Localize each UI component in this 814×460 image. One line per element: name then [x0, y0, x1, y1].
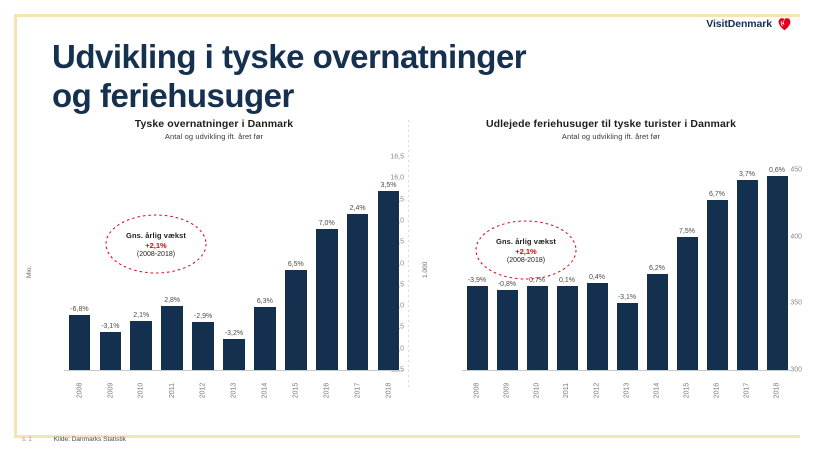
bar-data-label: 0,6% [769, 167, 785, 174]
frame-border-left [14, 14, 17, 438]
page-title-line1: Udvikling i tyske overnatninger [52, 38, 692, 77]
bar[interactable] [467, 286, 488, 370]
bar-data-label: -3,2% [225, 330, 243, 337]
bar-item[interactable]: 0,6% [762, 157, 792, 370]
bar-data-label: -0,8% [498, 281, 516, 288]
x-axis-tick: 2014 [261, 383, 268, 399]
bar[interactable] [378, 191, 400, 370]
x-axis-tick: 2016 [323, 383, 330, 399]
bar[interactable] [617, 303, 638, 370]
bar-item[interactable]: 7,0% [311, 157, 342, 370]
y-axis-label-right: 1.000 [422, 261, 429, 277]
bar-data-label: 7,0% [319, 220, 335, 227]
page-title-line2: og feriehusuger [52, 77, 692, 116]
bar-item[interactable]: -3,2% [219, 157, 250, 370]
bar[interactable] [557, 286, 578, 370]
frame-border-top [14, 14, 800, 17]
bar-data-label: -6,8% [70, 306, 88, 313]
chart-title-left: Tyske overnatninger i Danmark [24, 118, 404, 130]
bar-data-label: 6,7% [709, 191, 725, 198]
x-axis-tick: 2010 [138, 383, 145, 399]
x-axis-tick: 2015 [292, 383, 299, 399]
chart-subtitle-left: Antal og udvikling ift. året før [24, 132, 404, 141]
x-axis-tick: 2009 [503, 383, 510, 399]
bar-data-label: 3,7% [739, 171, 755, 178]
bar-data-label: 2,8% [164, 297, 180, 304]
bar-item[interactable]: 3,7% [732, 157, 762, 370]
x-axis-tick: 2014 [653, 383, 660, 399]
bar-item[interactable]: 6,2% [642, 157, 672, 370]
bar-data-label: 2,1% [133, 312, 149, 319]
bar[interactable] [527, 286, 548, 370]
bar[interactable] [100, 332, 122, 370]
bar[interactable] [497, 290, 518, 370]
annotation-growth-value: +2,1% [515, 247, 536, 256]
y-axis-label-left: Mio. [26, 265, 33, 277]
bar-data-label: 3,5% [381, 182, 397, 189]
page-title: Udvikling i tyske overnatninger og ferie… [52, 38, 692, 115]
annotation-line1: Gns. årlig vækst [496, 237, 556, 246]
bar[interactable] [347, 214, 369, 370]
x-axis-tick: 2008 [473, 383, 480, 399]
bar[interactable] [192, 322, 214, 370]
x-axis-tick: 2010 [533, 383, 540, 399]
x-axis-tick: 2011 [169, 383, 176, 398]
bar-data-label: 6,3% [257, 298, 273, 305]
x-axis-tick: 2009 [107, 383, 114, 399]
bar-data-label: -3,1% [618, 294, 636, 301]
growth-annotation: Gns. årlig vækst+2,1%(2008-2018) [104, 213, 208, 275]
x-axis-tick: 2018 [773, 383, 780, 399]
bar[interactable] [647, 274, 668, 370]
x-axis-tick: 2012 [200, 383, 207, 399]
footer: s. 1 Kilde: Danmarks Statistik [22, 436, 126, 443]
chart-title-right: Udlejede feriehusuger til tyske turister… [420, 118, 802, 130]
bar-data-label: -3,1% [101, 323, 119, 330]
x-axis-ticks: 2008200920102011201220132014201520162017… [462, 373, 792, 394]
bar[interactable] [69, 315, 91, 370]
x-axis-ticks: 2008200920102011201220132014201520162017… [64, 373, 404, 394]
x-axis-tick: 2017 [743, 383, 750, 399]
chart-subtitle-right: Antal og udvikling ift. året før [420, 132, 802, 141]
slide-canvas: VisitDenmark Udvikling i tyske overnatni… [0, 0, 814, 460]
bar[interactable] [707, 200, 728, 370]
bar-item[interactable]: 7,5% [672, 157, 702, 370]
x-axis-tick: 2012 [593, 383, 600, 399]
frame-border-bottom [14, 435, 800, 438]
bar-item[interactable]: -3,1% [612, 157, 642, 370]
bar[interactable] [254, 307, 276, 370]
x-axis-tick: 2013 [623, 383, 630, 399]
annotation-period: (2008-2018) [507, 257, 545, 264]
panel-divider [408, 120, 409, 388]
x-axis-tick: 2016 [713, 383, 720, 399]
x-axis-tick: 2018 [385, 383, 392, 399]
x-axis-tick: 2013 [230, 383, 237, 399]
bar[interactable] [223, 339, 245, 370]
bar-item[interactable]: 3,5% [373, 157, 404, 370]
bar[interactable] [316, 229, 338, 370]
chart-plot-right: 1.000 450400350300-3,9%-0,8%0,7%0,1%0,4%… [420, 157, 802, 412]
bar[interactable] [767, 176, 788, 370]
bar-data-label: 6,2% [649, 265, 665, 272]
source-note: Kilde: Danmarks Statistik [54, 436, 126, 443]
bar[interactable] [285, 270, 307, 370]
bar-data-label: -2,9% [194, 313, 212, 320]
bar[interactable] [130, 321, 152, 370]
bar-item[interactable]: 6,5% [280, 157, 311, 370]
visitdenmark-logo: VisitDenmark [706, 17, 792, 31]
bar[interactable] [587, 283, 608, 370]
x-axis-tick: 2015 [683, 383, 690, 399]
logo-text: VisitDenmark [706, 18, 772, 30]
bar-data-label: 6,5% [288, 261, 304, 268]
bar-item[interactable]: 2,4% [342, 157, 373, 370]
annotation-line1: Gns. årlig vækst [126, 231, 186, 240]
bar-item[interactable]: 0,4% [582, 157, 612, 370]
bar-item[interactable]: -6,8% [64, 157, 95, 370]
bar[interactable] [737, 180, 758, 370]
bar[interactable] [161, 306, 183, 370]
page-number: s. 1 [22, 437, 32, 443]
bar-data-label: 7,5% [679, 228, 695, 235]
heart-icon [777, 17, 792, 31]
bar-data-label: 2,4% [350, 205, 366, 212]
chart-plot-left: Mio. 16,516,015,515,014,514,013,513,012,… [24, 157, 404, 412]
x-axis-baseline [462, 370, 792, 371]
chart-panel-overnatninger: Tyske overnatninger i Danmark Antal og u… [24, 118, 404, 412]
x-axis-tick: 2017 [354, 383, 361, 399]
growth-annotation: Gns. årlig vækst+2,1%(2008-2018) [474, 219, 578, 281]
bar-item[interactable]: 6,7% [702, 157, 732, 370]
chart-panel-feriehusuger: Udlejede feriehusuger til tyske turister… [420, 118, 802, 412]
x-axis-tick: 2008 [76, 383, 83, 399]
bar[interactable] [677, 237, 698, 370]
x-axis-baseline [64, 370, 404, 371]
annotation-growth-value: +2,1% [145, 241, 166, 250]
annotation-period: (2008-2018) [137, 251, 175, 258]
bar-item[interactable]: 6,3% [249, 157, 280, 370]
x-axis-tick: 2011 [564, 383, 571, 398]
bar-data-label: 0,4% [589, 274, 605, 281]
